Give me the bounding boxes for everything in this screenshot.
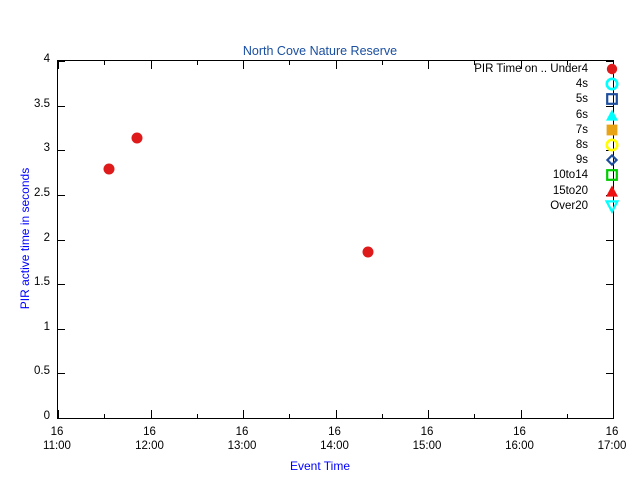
legend-item[interactable]: 10to14: [420, 168, 620, 183]
legend-item[interactable]: 9s: [420, 153, 620, 168]
y-tick-mark: [58, 150, 65, 151]
x-tick-mark-minor: [382, 414, 383, 418]
y-tick-label: 4: [6, 54, 50, 66]
x-tick-mark-minor: [197, 414, 198, 418]
x-tick-label-day: 16: [572, 425, 640, 439]
y-tick-mark: [606, 373, 613, 374]
y-tick-mark: [58, 284, 65, 285]
legend-marker-filled-triangle-up-icon: [604, 183, 620, 199]
y-tick-mark: [58, 418, 65, 419]
legend-item-label: 9s: [428, 153, 588, 167]
legend-item-label: PIR Time on .. Under4: [428, 62, 588, 76]
x-tick-label: 1614:00: [295, 425, 375, 453]
x-tick-mark-minor: [382, 61, 383, 65]
x-tick-label: 1616:00: [480, 425, 560, 453]
data-point: [362, 246, 373, 257]
legend-item[interactable]: 8s: [420, 138, 620, 153]
y-tick-label: 0.5: [6, 366, 50, 378]
x-tick-mark: [521, 410, 522, 418]
x-tick-label-time: 14:00: [295, 439, 375, 453]
legend-item-label: 8s: [428, 138, 588, 152]
y-tick-label: 2: [6, 233, 50, 245]
x-tick-mark: [613, 410, 614, 418]
x-tick-mark-minor: [567, 414, 568, 418]
y-tick-mark: [58, 106, 65, 107]
scatter-chart: North Cove Nature Reserve Visitor Counte…: [0, 0, 640, 480]
x-tick-label: 1613:00: [202, 425, 282, 453]
y-tick-label: 1.5: [6, 277, 50, 289]
legend-item-label: 4s: [428, 77, 588, 91]
chart-title-line-1: North Cove Nature Reserve: [0, 44, 640, 59]
x-tick-mark: [243, 61, 244, 69]
x-tick-mark: [336, 410, 337, 418]
x-tick-mark: [336, 61, 337, 69]
legend-marker-open-circle-icon: [604, 76, 620, 92]
x-tick-label-time: 11:00: [17, 439, 97, 453]
x-tick-mark-minor: [289, 414, 290, 418]
x-tick-label-day: 16: [110, 425, 190, 439]
legend-item[interactable]: 7s: [420, 123, 620, 138]
x-tick-label-time: 17:00: [572, 439, 640, 453]
x-tick-label-time: 12:00: [110, 439, 190, 453]
legend-item-label: 10to14: [428, 168, 588, 182]
x-tick-label: 1611:00: [17, 425, 97, 453]
y-tick-mark: [58, 240, 65, 241]
legend-item-label: 5s: [428, 92, 588, 106]
x-tick-label: 1617:00: [572, 425, 640, 453]
y-tick-mark: [58, 329, 65, 330]
x-tick-label-time: 13:00: [202, 439, 282, 453]
legend-item[interactable]: 6s: [420, 108, 620, 123]
legend-item[interactable]: Over20: [420, 199, 620, 214]
legend-item-label: 15to20: [428, 184, 588, 198]
y-tick-mark: [58, 195, 65, 196]
x-tick-label-time: 15:00: [387, 439, 467, 453]
y-tick-mark: [58, 373, 65, 374]
y-tick-mark: [606, 418, 613, 419]
legend-item[interactable]: 5s: [420, 92, 620, 107]
legend-marker-filled-triangle-up-icon: [604, 107, 620, 123]
x-tick-mark: [243, 410, 244, 418]
legend-item-label: 6s: [428, 108, 588, 122]
x-tick-label-day: 16: [17, 425, 97, 439]
legend-marker-open-circle-icon: [604, 137, 620, 153]
chart-legend: PIR Time on .. Under44s5s6s7s8s9s10to141…: [420, 62, 620, 222]
data-point: [131, 132, 142, 143]
x-tick-mark-minor: [104, 414, 105, 418]
x-tick-mark: [428, 410, 429, 418]
x-tick-label-time: 16:00: [480, 439, 560, 453]
y-tick-mark: [606, 329, 613, 330]
legend-item[interactable]: 4s: [420, 77, 620, 92]
legend-marker-filled-square-icon: [604, 122, 620, 138]
legend-marker-open-square-icon: [604, 167, 620, 183]
x-tick-mark: [151, 61, 152, 69]
x-tick-mark-minor: [474, 414, 475, 418]
data-point: [103, 163, 114, 174]
y-tick-label: 3.5: [6, 99, 50, 111]
x-tick-label: 1615:00: [387, 425, 467, 453]
x-tick-mark: [58, 410, 59, 418]
legend-marker-open-triangle-down-icon: [604, 198, 620, 214]
x-tick-label-day: 16: [295, 425, 375, 439]
x-tick-label-day: 16: [480, 425, 560, 439]
x-tick-mark: [151, 410, 152, 418]
legend-item-label: Over20: [428, 199, 588, 213]
x-tick-label-day: 16: [202, 425, 282, 439]
x-tick-label-day: 16: [387, 425, 467, 439]
x-axis-title: Event Time: [0, 459, 640, 473]
x-tick-mark: [58, 61, 59, 69]
x-tick-mark-minor: [197, 61, 198, 65]
y-tick-label: 2.5: [6, 188, 50, 200]
legend-marker-open-square-icon: [604, 91, 620, 107]
x-tick-mark-minor: [289, 61, 290, 65]
legend-item[interactable]: PIR Time on .. Under4: [420, 62, 620, 77]
legend-item-label: 7s: [428, 123, 588, 137]
legend-marker-filled-circle-icon: [604, 61, 620, 77]
legend-marker-open-diamond-icon: [604, 152, 620, 168]
y-tick-mark: [606, 240, 613, 241]
legend-item[interactable]: 15to20: [420, 184, 620, 199]
y-tick-label: 3: [6, 143, 50, 155]
y-tick-mark: [606, 284, 613, 285]
y-tick-label: 0: [6, 411, 50, 423]
x-tick-mark-minor: [104, 61, 105, 65]
x-tick-label: 1612:00: [110, 425, 190, 453]
y-tick-label: 1: [6, 322, 50, 334]
y-tick-mark: [58, 61, 65, 62]
